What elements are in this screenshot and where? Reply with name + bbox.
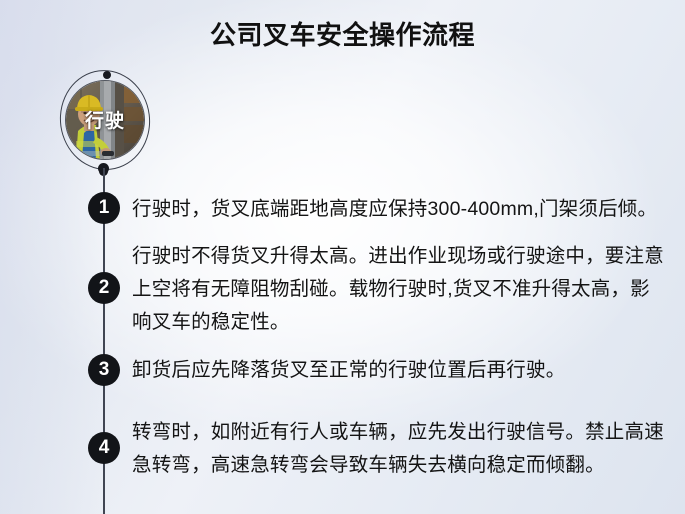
step-marker-2[interactable]: 2 bbox=[88, 272, 120, 304]
page-title: 公司叉车安全操作流程 bbox=[0, 18, 685, 52]
step-marker-1[interactable]: 1 bbox=[88, 192, 120, 224]
badge-driving[interactable]: 行驶 bbox=[59, 74, 151, 166]
step-text-1: 行驶时，货叉底端距地高度应保持300-400mm,门架须后倾。 bbox=[132, 193, 666, 226]
slide-canvas: 公司叉车安全操作流程 bbox=[0, 0, 685, 514]
step-text-4: 转弯时，如附近有行人或车辆，应先发出行驶信号。禁止高速急转弯，高速急转弯会导致车… bbox=[132, 416, 666, 482]
step-marker-3[interactable]: 3 bbox=[88, 354, 120, 386]
badge-label: 行驶 bbox=[59, 106, 151, 133]
step-text-2: 行驶时不得货叉升得太高。进出作业现场或行驶途中，要注意上空将有无障阻物刮碰。载物… bbox=[132, 240, 666, 339]
step-text-3: 卸货后应先降落货叉至正常的行驶位置后再行驶。 bbox=[132, 354, 666, 387]
ring-dot-top-icon bbox=[103, 71, 111, 79]
step-marker-4[interactable]: 4 bbox=[88, 432, 120, 464]
